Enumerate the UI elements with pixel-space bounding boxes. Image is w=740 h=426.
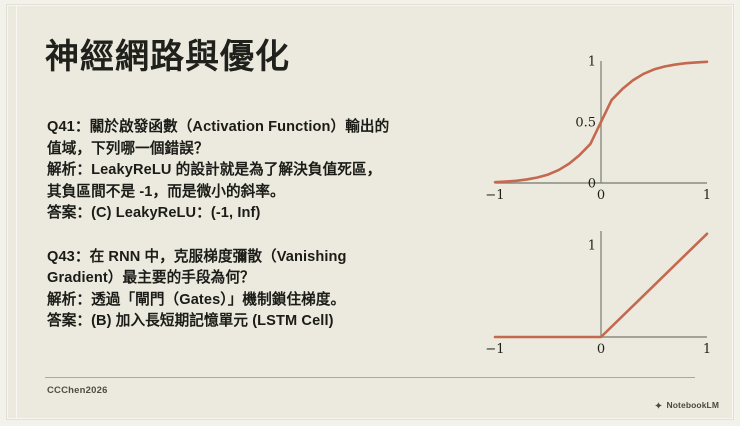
- notebooklm-watermark: NotebookLM: [654, 400, 719, 410]
- qa-block-q41: Q41：關於啟發函數（Activation Function）輸出的 值域，下列…: [47, 117, 452, 225]
- sigmoid-ytick-1: 1: [588, 55, 596, 70]
- slide-root: 神經網路與優化 Q41：關於啟發函數（Activation Function）輸…: [0, 0, 740, 426]
- sigmoid-xtick--1: −1: [485, 188, 504, 203]
- slide-left-edge-accent: [16, 5, 17, 419]
- q41-explanation-line-1: 解析：LeakyReLU 的設計就是為了解決負值死區，: [47, 160, 452, 182]
- q43-question-line-2: Gradient）最主要的手段為何？: [47, 268, 452, 290]
- relu-chart-svg: −1 0 1 1: [477, 221, 729, 369]
- qa-block-q43: Q43：在 RNN 中，克服梯度彌散（Vanishing Gradient）最主…: [47, 247, 452, 333]
- relu-xtick-1: 1: [703, 342, 711, 357]
- body-text-column: Q41：關於啟發函數（Activation Function）輸出的 值域，下列…: [47, 117, 452, 333]
- relu-axes: [495, 231, 707, 337]
- relu-activation-chart: −1 0 1 1: [477, 221, 729, 369]
- relu-xtick-0: 0: [597, 342, 605, 357]
- sigmoid-xtick-1: 1: [703, 188, 711, 203]
- sigmoid-chart-svg: −1 0 1 0 0.5 1: [477, 47, 729, 217]
- slide-page: 神經網路與優化 Q41：關於啟發函數（Activation Function）輸…: [6, 4, 734, 420]
- sigmoid-ytick-0-5: 0.5: [575, 116, 596, 131]
- footer-credit: CCChen2026: [47, 385, 108, 396]
- sigmoid-xtick-0: 0: [597, 188, 605, 203]
- q43-question-line-1: Q43：在 RNN 中，克服梯度彌散（Vanishing: [47, 247, 452, 269]
- q41-question-line-2: 值域，下列哪一個錯誤？: [47, 139, 452, 161]
- sigmoid-activation-chart: −1 0 1 0 0.5 1: [477, 47, 729, 217]
- footer-divider: [45, 377, 695, 378]
- notebooklm-label: NotebookLM: [667, 400, 719, 410]
- relu-ytick-1: 1: [588, 238, 596, 253]
- q43-explanation-line: 解析：透過「閘門（Gates）」機制鎖住梯度。: [47, 290, 452, 312]
- q41-answer-line: 答案：(C) LeakyReLU：(-1, Inf): [47, 203, 452, 225]
- q41-explanation-line-2: 其負區間不是 -1，而是微小的斜率。: [47, 182, 452, 204]
- sigmoid-ytick-0: 0: [588, 177, 596, 192]
- relu-xtick--1: −1: [485, 342, 504, 357]
- relu-tick-labels: −1 0 1 1: [485, 238, 711, 357]
- page-title: 神經網路與優化: [45, 38, 290, 77]
- notebooklm-logo-icon: [654, 401, 663, 410]
- q43-answer-line: 答案：(B) 加入長短期記憶單元 (LSTM Cell): [47, 311, 452, 333]
- q41-question-line-1: Q41：關於啟發函數（Activation Function）輸出的: [47, 117, 452, 139]
